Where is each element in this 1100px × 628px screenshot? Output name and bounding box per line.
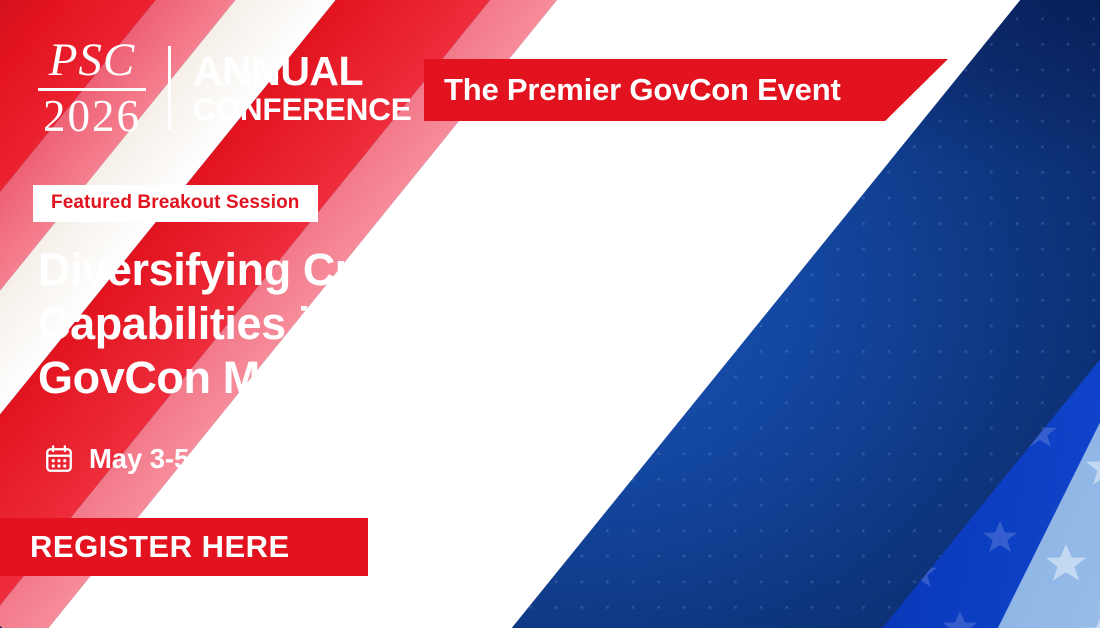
premier-event-banner: The Premier GovCon Event (424, 59, 948, 121)
event-date-venue: May 3-5, 2026 | The Greenbrier in WV (44, 443, 567, 475)
register-here-button[interactable]: REGISTER HERE (0, 518, 368, 576)
logo-year: 2026 (43, 94, 141, 139)
calendar-icon (44, 444, 74, 474)
logo-conference-text: CONFERENCE (193, 93, 412, 126)
vertical-divider-icon (168, 46, 171, 130)
logo-left-block: PSC 2026 (38, 38, 168, 139)
headline-line-1: Diversifying Customers and (38, 243, 625, 297)
psc-conference-logo: PSC 2026 ANNUAL CONFERENCE (38, 38, 412, 139)
headline-line-2: Capabilities in Today’s (38, 297, 625, 351)
logo-psc-wordmark: PSC (45, 38, 140, 87)
promo-banner: PSC 2026 ANNUAL CONFERENCE The Premier G… (0, 0, 1100, 628)
logo-right-block: ANNUAL CONFERENCE (193, 51, 412, 126)
headline-line-3: GovCon Market (38, 351, 625, 405)
featured-session-label: Featured Breakout Session (51, 192, 300, 213)
featured-session-badge: Featured Breakout Session (33, 185, 318, 222)
premier-event-label: The Premier GovCon Event (424, 72, 841, 108)
logo-annual-text: ANNUAL (193, 51, 412, 93)
event-date-venue-label: May 3-5, 2026 | The Greenbrier in WV (89, 443, 567, 475)
register-here-label: REGISTER HERE (0, 529, 290, 565)
page-title: Diversifying Customers and Capabilities … (38, 243, 625, 405)
